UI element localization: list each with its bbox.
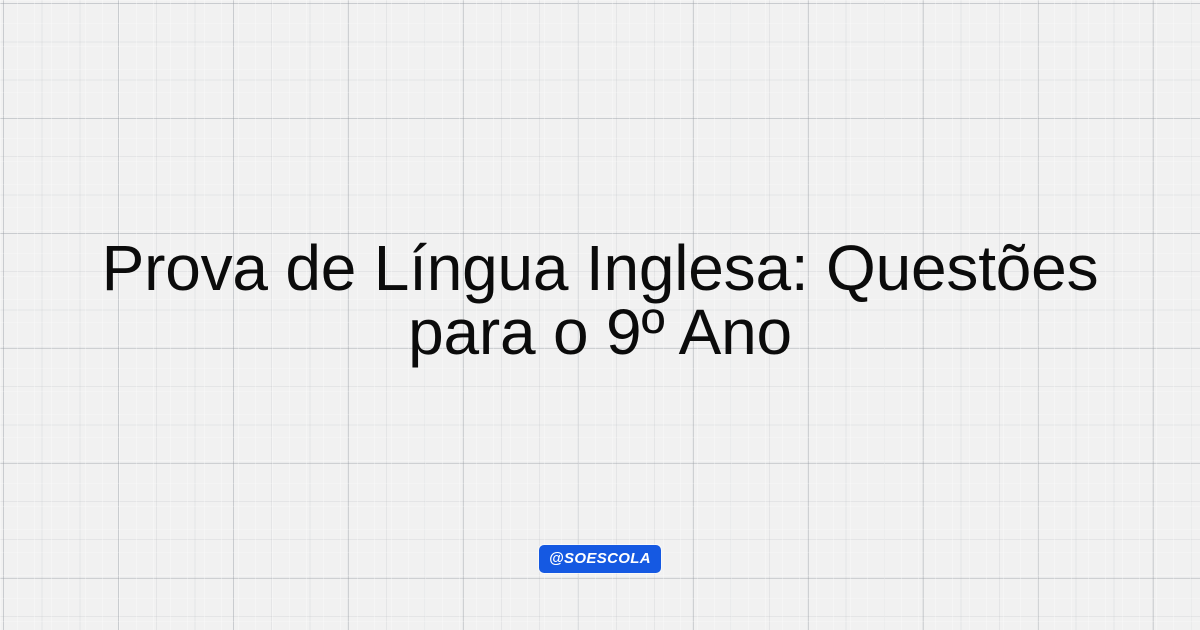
watermark-container: @SOESCOLA	[0, 545, 1200, 573]
title-container: Prova de Língua Inglesa: Questões para o…	[0, 236, 1200, 364]
page-title: Prova de Língua Inglesa: Questões para o…	[70, 236, 1130, 364]
og-image-card: Prova de Língua Inglesa: Questões para o…	[0, 0, 1200, 630]
watermark-handle-badge: @SOESCOLA	[539, 545, 661, 573]
